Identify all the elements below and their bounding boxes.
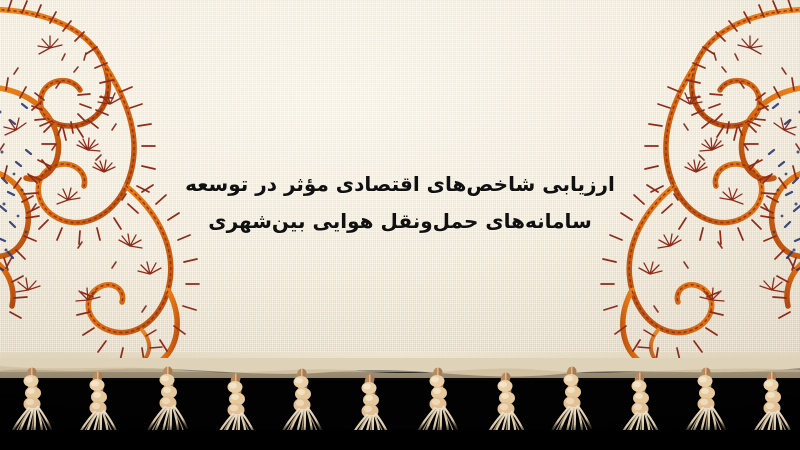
title-card-canvas: ارزیابی شاخص‌های اقتصادی مؤثر در توسعه س… (0, 0, 800, 450)
title-line-1: ارزیابی شاخص‌های اقتصادی مؤثر در توسعه (180, 166, 620, 203)
knotted-tassel-fringe (0, 358, 800, 450)
page-title: ارزیابی شاخص‌های اقتصادی مؤثر در توسعه س… (180, 166, 620, 240)
title-line-2: سامانه‌های حمل‌ونقل هوایی بین‌شهری (180, 203, 620, 240)
